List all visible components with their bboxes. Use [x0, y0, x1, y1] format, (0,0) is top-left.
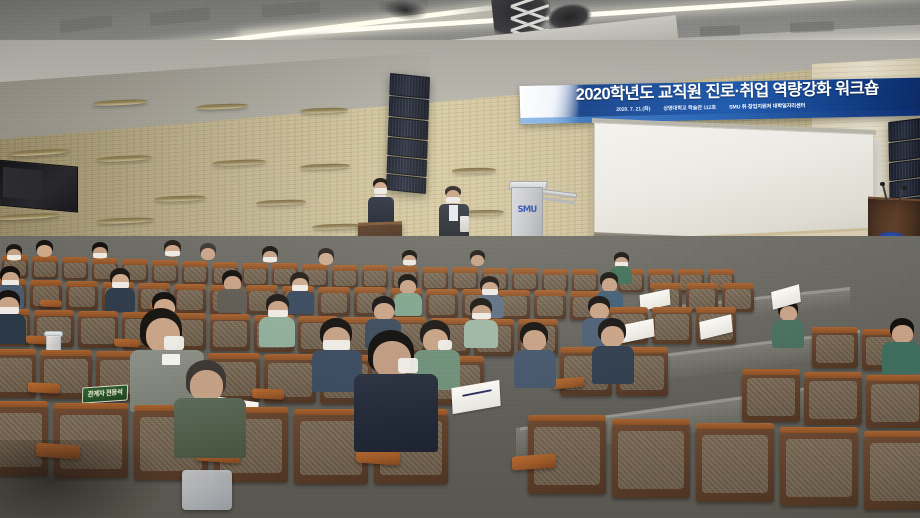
seat-armrest	[114, 338, 140, 347]
banner-organizer: SMU 취·창업지원처 대학일자리센터	[729, 103, 805, 112]
banner-logo-strip	[519, 85, 578, 124]
auditorium-photo: SMU 상명대학교 2020학년도 교직원 진로·취업 역량강화 워크숍 202…	[0, 0, 920, 518]
seat-armrest	[40, 299, 62, 307]
handheld-paper	[460, 216, 469, 232]
seat-armrest	[252, 388, 284, 400]
line-array-loudspeaker	[386, 73, 430, 195]
reserved-seat-placard: 관계자 전용석	[82, 384, 128, 403]
screen-glare	[3, 167, 43, 200]
banner-date: 2020. 7. 21.(화)	[616, 106, 650, 114]
foreground-blur	[0, 440, 170, 518]
microphone-head	[902, 186, 907, 190]
microphone-head	[880, 182, 885, 186]
placard-text: 관계자 전용석	[83, 385, 127, 401]
floor-bag	[182, 470, 232, 510]
seat-armrest	[28, 382, 60, 394]
wall-mounted-monitor	[0, 159, 78, 212]
ceiling-tile	[790, 21, 834, 33]
banner-venue: 상명대학교 학술관 112호	[663, 105, 716, 113]
ceiling-tile	[700, 25, 740, 36]
projection-screen	[594, 122, 874, 246]
name-tag	[162, 354, 180, 365]
lectern-logo: SMU	[515, 205, 539, 215]
